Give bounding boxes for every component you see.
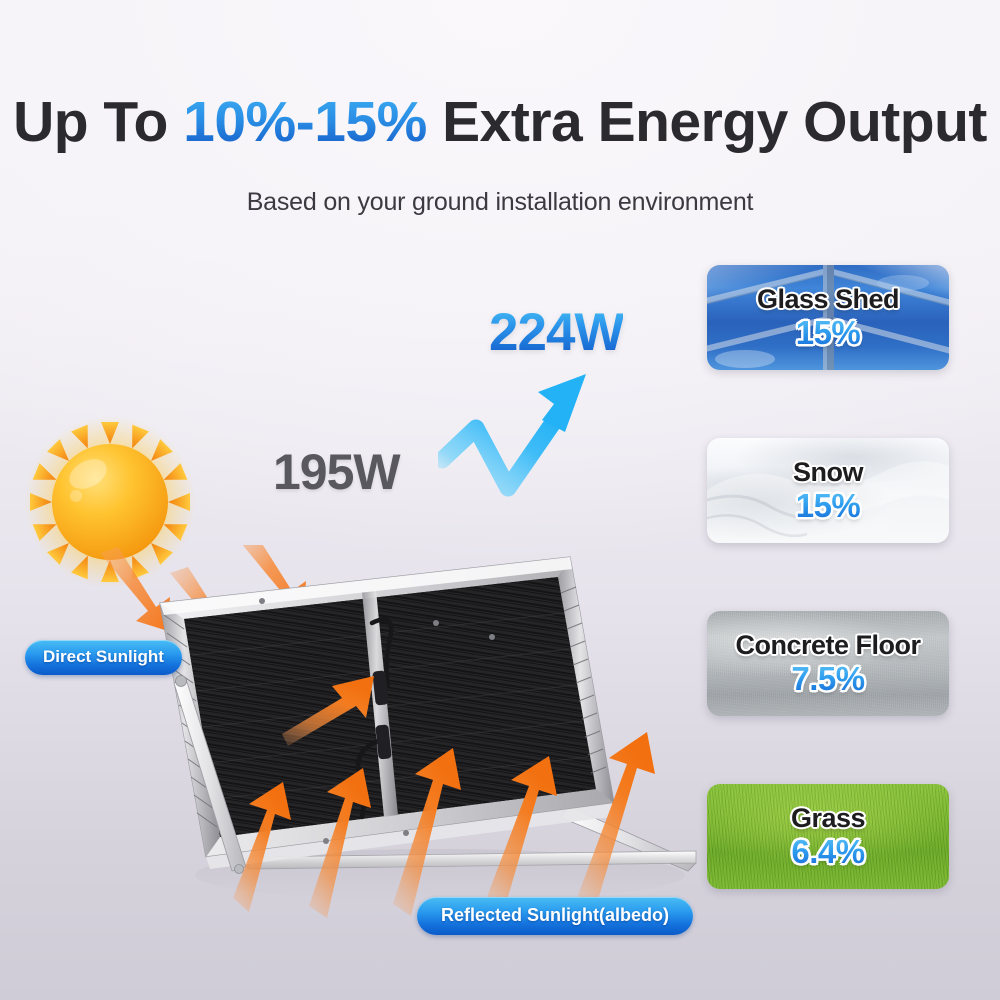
surface-card-label: Snow	[793, 459, 863, 486]
surface-card-percent: 15%15%	[796, 489, 861, 522]
surface-card-glass-shed[interactable]: Glass Shed 15%15%	[707, 265, 949, 370]
percent-value: 7.5%	[791, 660, 864, 697]
orange-up-arrow-icon	[282, 672, 402, 752]
page-subtitle: Based on your ground installation enviro…	[0, 188, 1000, 217]
baseline-output-value: 195W	[273, 443, 400, 501]
headline-suffix: Extra Energy Output	[427, 90, 987, 154]
percent-value: 15%	[796, 314, 861, 351]
percent-value: 15%	[796, 487, 861, 524]
surface-card-grass[interactable]: Grass 6.4%6.4%	[707, 784, 949, 889]
headline-percent-range: 10%-15%	[183, 90, 427, 154]
reflected-sunlight-badge[interactable]: Reflected Sunlight(albedo)	[417, 897, 693, 935]
surface-card-label: Concrete Floor	[735, 632, 920, 659]
page-title: Up To 10%-15% Extra Energy Output	[0, 89, 1000, 155]
surface-card-percent: 15%15%	[796, 316, 861, 349]
headline-prefix: Up To	[13, 90, 183, 154]
percent-value: 6.4%	[791, 833, 864, 870]
surface-albedo-card-list: Glass Shed 15%15% Snow 15%15% Concrete F…	[707, 265, 949, 889]
direct-sunlight-badge[interactable]: Direct Sunlight	[25, 640, 182, 675]
surface-card-percent: 7.5%7.5%	[791, 662, 864, 695]
infographic-canvas: Up To 10%-15% Extra Energy Output Based …	[0, 0, 1000, 1000]
upward-trend-arrow-icon	[438, 352, 618, 502]
surface-card-snow[interactable]: Snow 15%15%	[707, 438, 949, 543]
surface-card-percent: 6.4%6.4%	[791, 835, 864, 868]
surface-card-label: Grass	[791, 805, 865, 832]
surface-card-concrete-floor[interactable]: Concrete Floor 7.5%7.5%	[707, 611, 949, 716]
surface-card-label: Glass Shed	[757, 286, 899, 313]
